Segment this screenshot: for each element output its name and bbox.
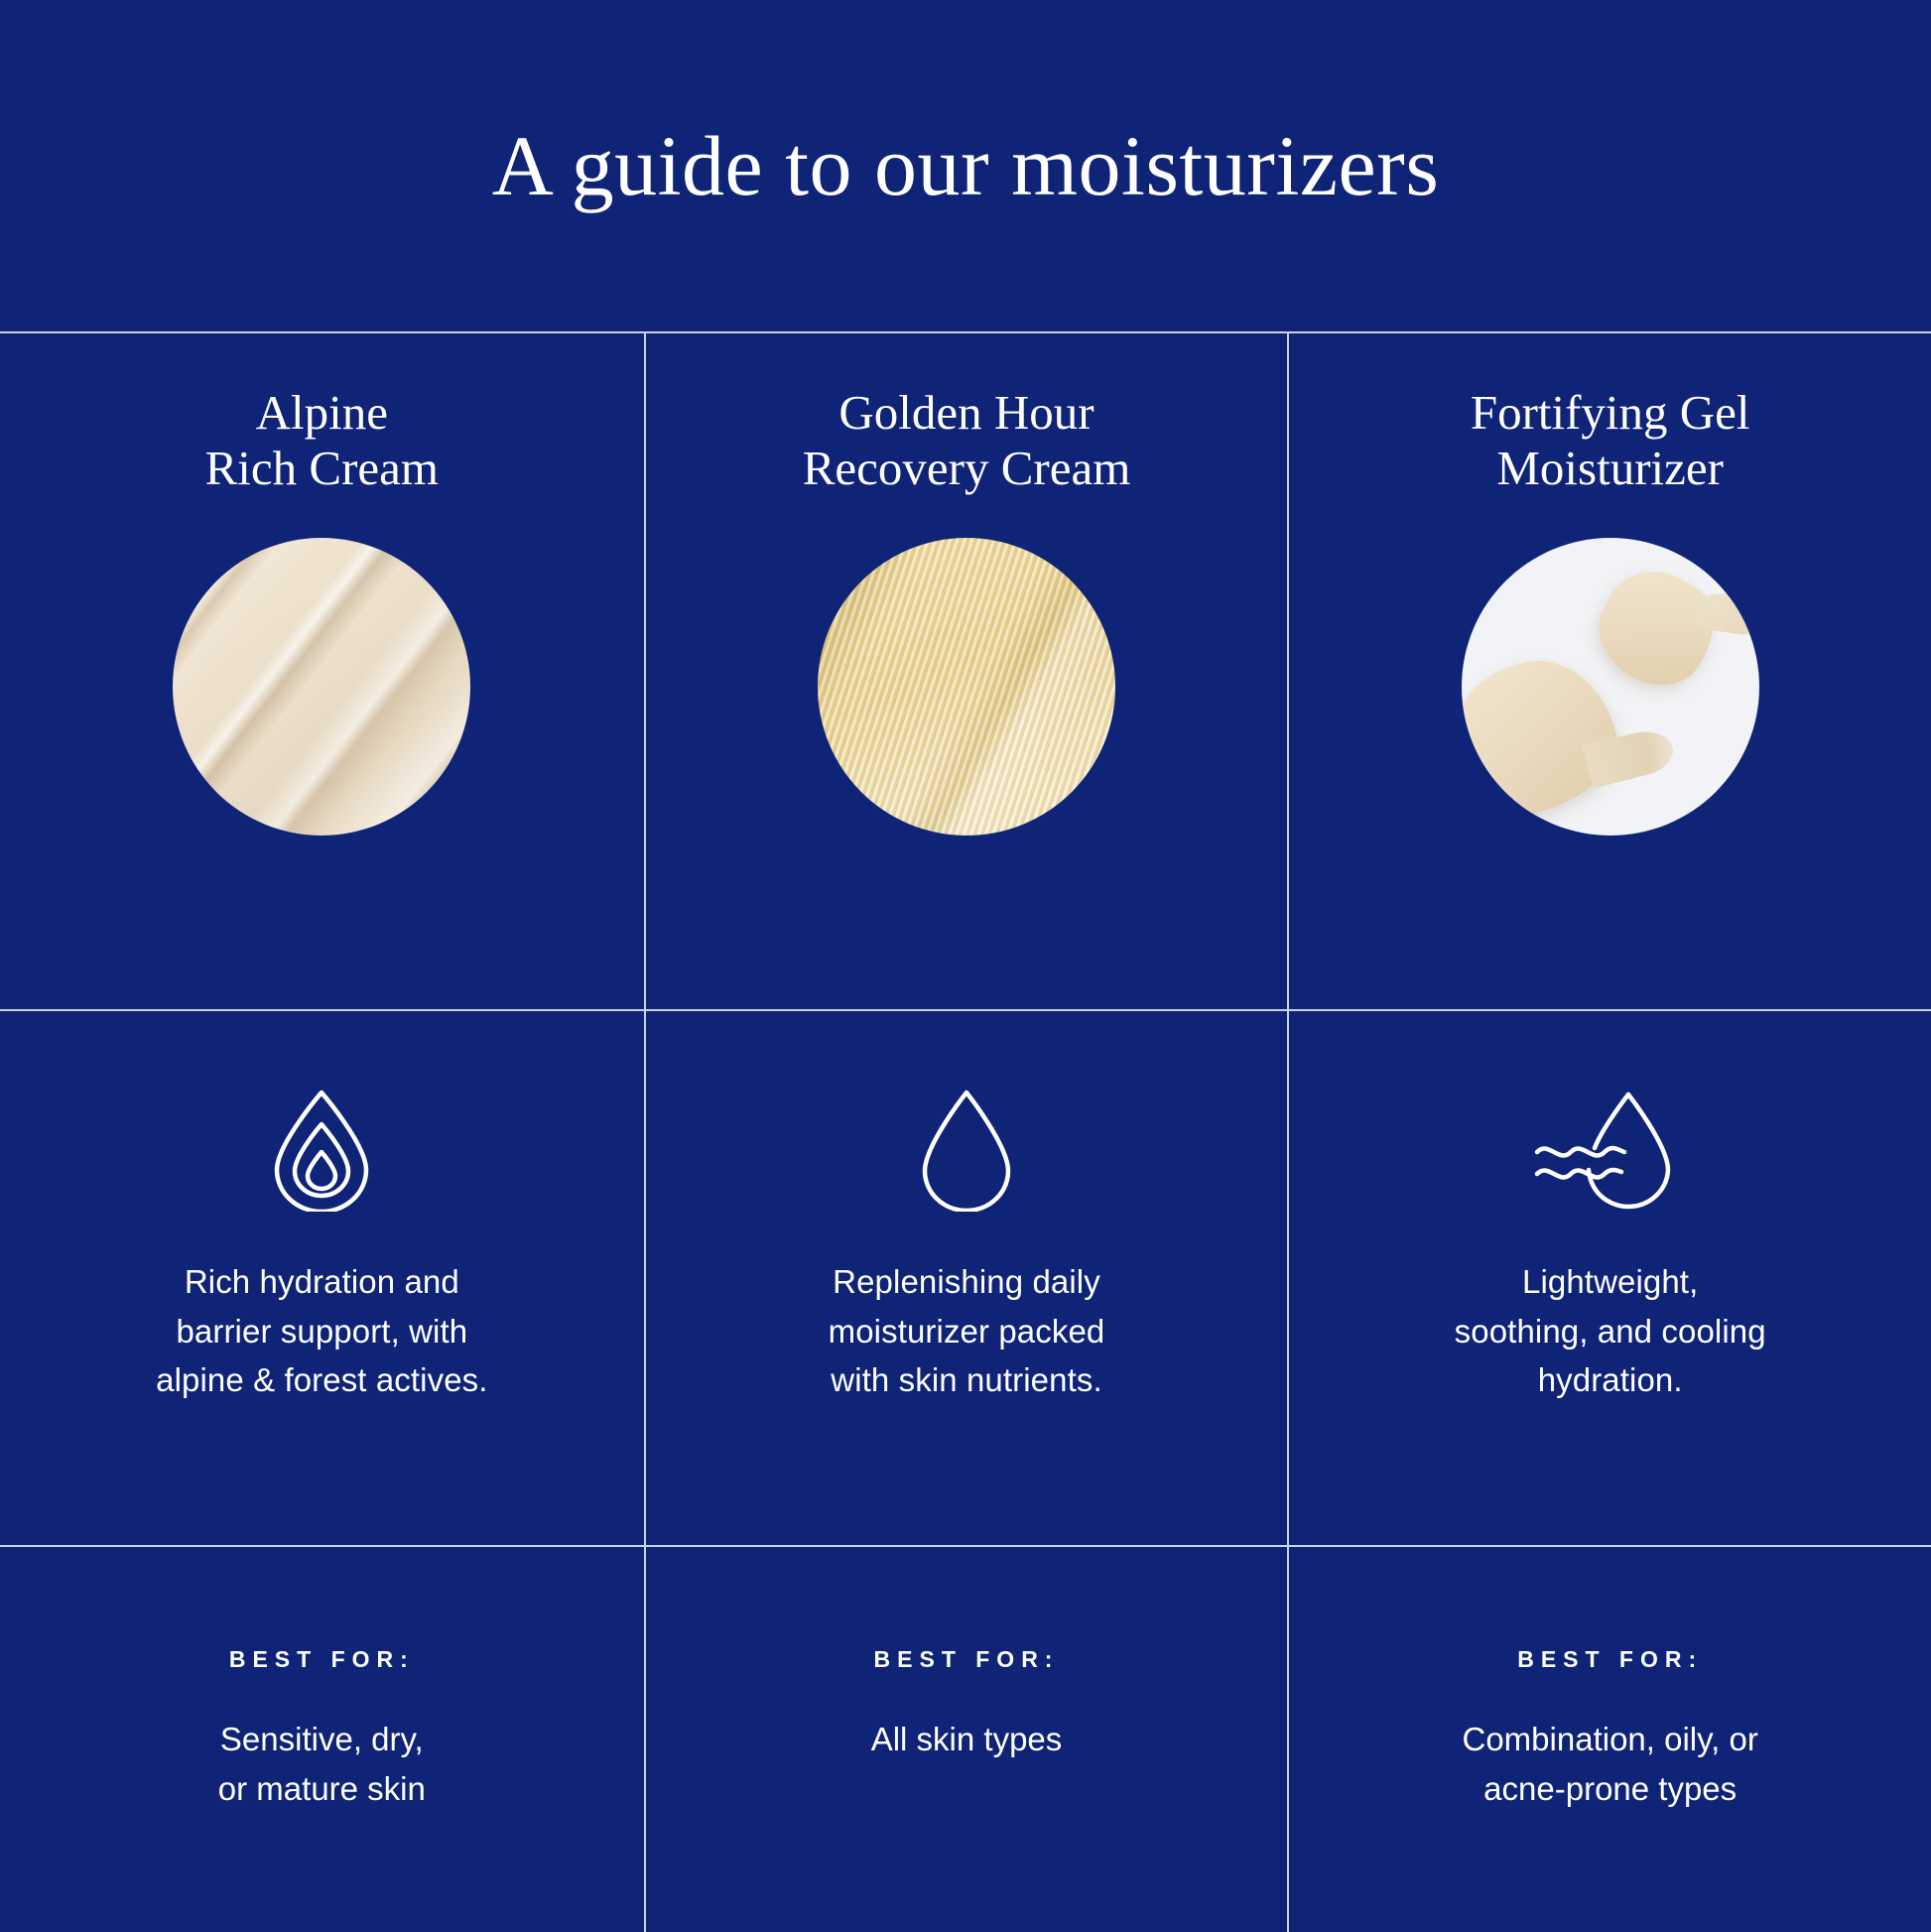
benefit-description: Rich hydration and barrier support, with… bbox=[156, 1257, 487, 1405]
best-for-column-fortifying-gel-moisturizer: Best for: Combination, oily, or acne-pro… bbox=[1287, 1547, 1931, 1932]
product-column-golden-hour-recovery-cream[interactable]: Golden Hour Recovery Cream bbox=[644, 333, 1288, 1009]
product-swatch-fortifying-gel-moisturizer bbox=[1462, 538, 1759, 836]
cream-texture-image bbox=[173, 538, 470, 836]
products-row: Alpine Rich Cream Golden Hour Recovery C… bbox=[0, 333, 1931, 1009]
droplet-icon bbox=[912, 1083, 1021, 1212]
benefit-column-golden-hour-recovery-cream: Replenishing daily moisturizer packed wi… bbox=[644, 1011, 1288, 1545]
product-column-alpine-rich-cream[interactable]: Alpine Rich Cream bbox=[0, 333, 644, 1009]
benefit-column-fortifying-gel-moisturizer: Lightweight, soothing, and cooling hydra… bbox=[1287, 1011, 1931, 1545]
best-for-label: Best for: bbox=[874, 1646, 1060, 1673]
best-for-label: Best for: bbox=[229, 1646, 415, 1673]
product-name: Golden Hour Recovery Cream bbox=[803, 385, 1131, 496]
gel-droplet-large bbox=[1462, 645, 1630, 830]
product-name: Alpine Rich Cream bbox=[205, 385, 439, 496]
best-for-value: Sensitive, dry, or mature skin bbox=[218, 1715, 426, 1813]
product-swatch-golden-hour-recovery-cream bbox=[818, 538, 1115, 836]
best-for-label: Best for: bbox=[1517, 1646, 1703, 1673]
benefits-row: Rich hydration and barrier support, with… bbox=[0, 1009, 1931, 1545]
best-for-column-golden-hour-recovery-cream: Best for: All skin types bbox=[644, 1547, 1288, 1932]
benefit-description: Replenishing daily moisturizer packed wi… bbox=[829, 1257, 1105, 1405]
page-title: A guide to our moisturizers bbox=[492, 123, 1440, 208]
best-for-row: Best for: Sensitive, dry, or mature skin… bbox=[0, 1545, 1931, 1932]
gel-texture-image bbox=[1462, 538, 1759, 836]
comparison-grid: Alpine Rich Cream Golden Hour Recovery C… bbox=[0, 331, 1931, 1932]
product-name: Fortifying Gel Moisturizer bbox=[1471, 385, 1750, 496]
best-for-value: Combination, oily, or acne-prone types bbox=[1463, 1715, 1758, 1813]
nested-droplet-icon bbox=[263, 1083, 380, 1212]
droplet-waves-icon bbox=[1527, 1083, 1694, 1212]
benefit-description: Lightweight, soothing, and cooling hydra… bbox=[1455, 1257, 1766, 1405]
moisturizer-guide-poster: A guide to our moisturizers Alpine Rich … bbox=[0, 0, 1931, 1932]
gel-droplet-small bbox=[1581, 554, 1731, 703]
product-column-fortifying-gel-moisturizer[interactable]: Fortifying Gel Moisturizer bbox=[1287, 333, 1931, 1009]
benefit-column-alpine-rich-cream: Rich hydration and barrier support, with… bbox=[0, 1011, 644, 1545]
golden-texture-image bbox=[818, 538, 1115, 836]
best-for-value: All skin types bbox=[871, 1715, 1063, 1764]
best-for-column-alpine-rich-cream: Best for: Sensitive, dry, or mature skin bbox=[0, 1547, 644, 1932]
poster-header: A guide to our moisturizers bbox=[0, 0, 1931, 331]
product-swatch-alpine-rich-cream bbox=[173, 538, 470, 836]
